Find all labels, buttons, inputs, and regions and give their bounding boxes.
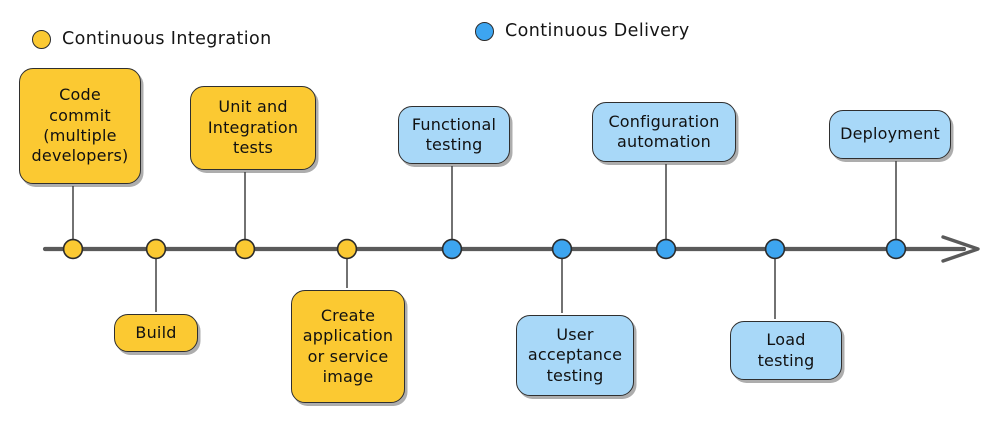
- stage-label-user-acceptance-testing: User acceptance testing: [525, 325, 625, 386]
- timeline-node-load-testing[interactable]: [766, 240, 785, 259]
- timeline-node-user-acceptance-testing[interactable]: [553, 240, 572, 259]
- stage-box-load-testing[interactable]: Load testing: [730, 321, 842, 380]
- timeline-axis: [45, 237, 978, 261]
- stage-label-create-application-or-service-image: Create application or service image: [300, 306, 396, 388]
- legend-label-continuous-delivery: Continuous Delivery: [505, 21, 690, 41]
- stage-label-load-testing: Load testing: [739, 330, 833, 371]
- stage-label-configuration-automation: Configuration automation: [601, 112, 727, 153]
- stage-box-functional-testing[interactable]: Functional testing: [398, 106, 510, 164]
- timeline-node-code-commit[interactable]: [64, 240, 83, 259]
- timeline-diagram: Continuous Integration Continuous Delive…: [0, 0, 1000, 438]
- timeline-node-deployment[interactable]: [887, 240, 906, 259]
- stage-box-create-application-or-service-image[interactable]: Create application or service image: [291, 290, 405, 403]
- stage-box-user-acceptance-testing[interactable]: User acceptance testing: [516, 315, 634, 396]
- timeline-node-configuration-automation[interactable]: [657, 240, 676, 259]
- stage-box-build[interactable]: Build: [114, 314, 198, 352]
- circle-dot-icon: [32, 30, 51, 49]
- stage-label-deployment: Deployment: [840, 124, 940, 144]
- stage-box-unit-and-integration-tests[interactable]: Unit and Integration tests: [190, 86, 316, 170]
- legend-label-continuous-integration: Continuous Integration: [62, 29, 272, 49]
- timeline-canvas: [0, 0, 1000, 438]
- timeline-node-create-application-or-service-image[interactable]: [338, 240, 357, 259]
- timeline-node-build[interactable]: [147, 240, 166, 259]
- stage-label-unit-and-integration-tests: Unit and Integration tests: [199, 97, 307, 158]
- legend-item-continuous-delivery: Continuous Delivery: [475, 21, 690, 41]
- stage-box-deployment[interactable]: Deployment: [829, 110, 951, 159]
- stage-box-configuration-automation[interactable]: Configuration automation: [592, 102, 736, 162]
- stage-label-functional-testing: Functional testing: [407, 115, 501, 156]
- timeline-node-unit-and-integration-tests[interactable]: [236, 240, 255, 259]
- circle-dot-icon: [475, 22, 494, 41]
- stage-label-build: Build: [135, 323, 176, 343]
- legend-item-continuous-integration: Continuous Integration: [32, 29, 272, 49]
- stage-label-code-commit: Code commit (multiple developers): [28, 85, 132, 167]
- timeline-node-functional-testing[interactable]: [443, 240, 462, 259]
- stage-box-code-commit[interactable]: Code commit (multiple developers): [19, 68, 141, 184]
